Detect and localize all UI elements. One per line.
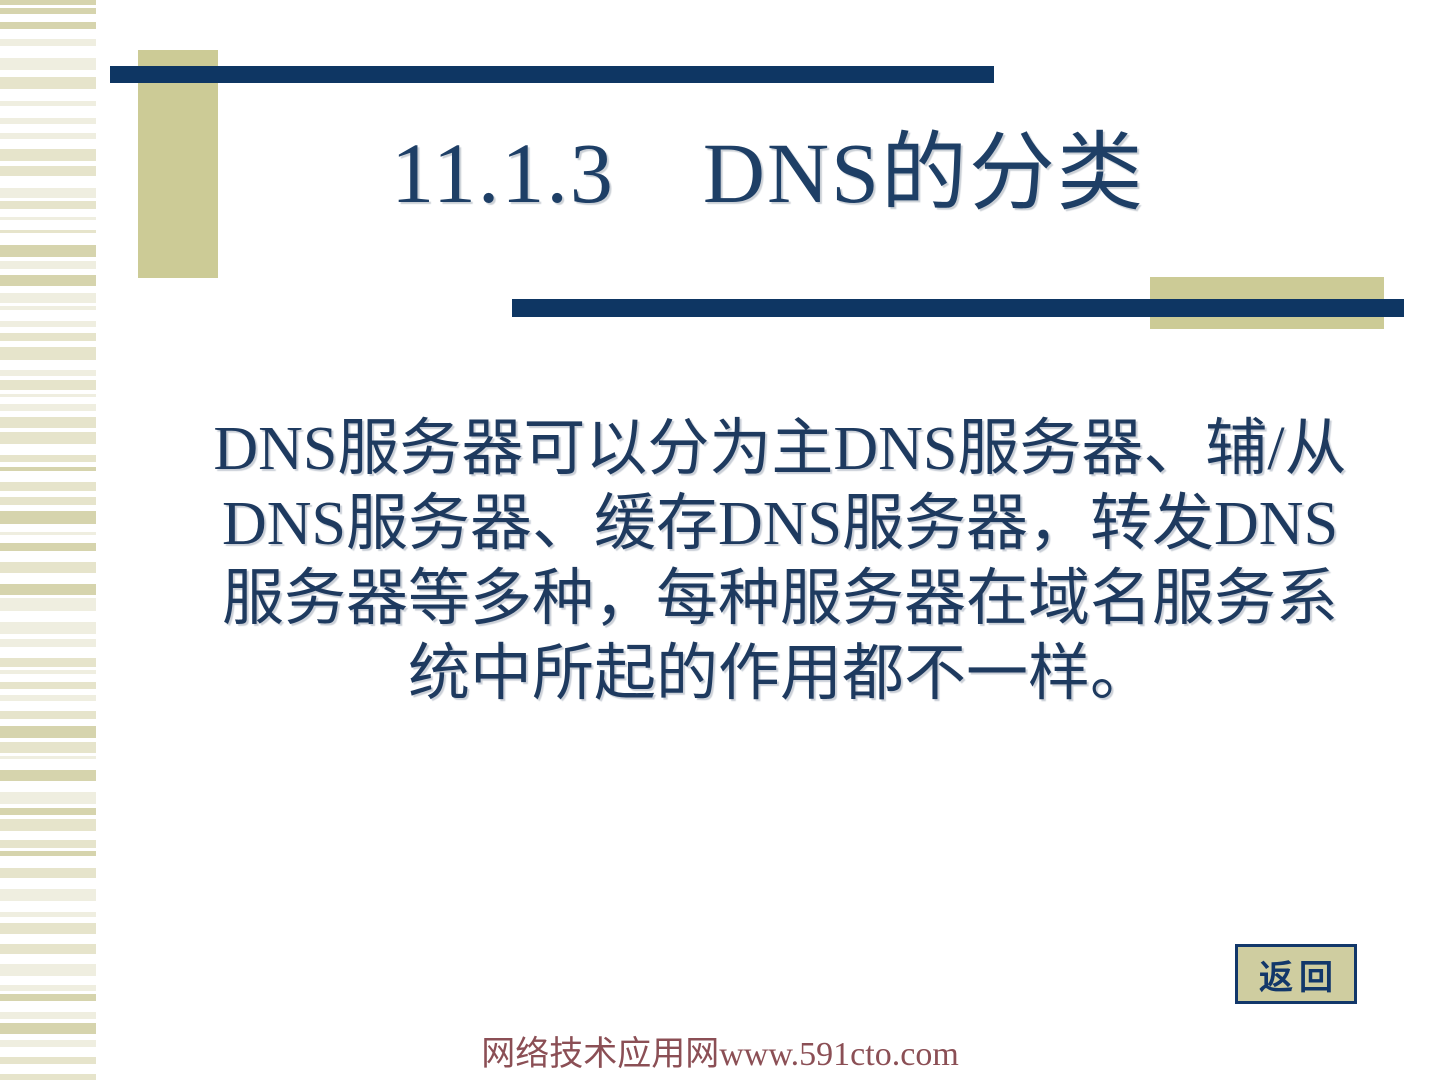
footer-watermark: 网络技术应用网www.591cto.com (0, 1026, 1440, 1075)
stripe-segment (0, 889, 96, 901)
stripe-segment (0, 792, 96, 804)
stripe-segment (0, 306, 96, 310)
stripe-segment (0, 497, 96, 505)
stripe-segment (0, 432, 96, 444)
stripe-segment (0, 562, 96, 573)
stripe-segment (0, 380, 96, 390)
stripe-segment (0, 985, 96, 991)
stripe-segment (0, 639, 96, 647)
body-paragraph: DNS服务器可以分为主DNS服务器、辅/从 DNS服务器、缓存DNS服务器，转发… (150, 412, 1410, 712)
stripe-segment (0, 819, 96, 831)
stripe-segment (0, 101, 96, 106)
stripe-segment (0, 455, 96, 462)
stripe-segment (0, 532, 96, 535)
stripe-segment (0, 293, 96, 303)
stripe-segment (0, 333, 96, 341)
stripe-segment (0, 923, 96, 934)
body-line-3: 服务器等多种，每种服务器在域名服务系 (150, 562, 1410, 637)
body-line-1: DNS服务器可以分为主DNS服务器、辅/从 (150, 412, 1410, 487)
stripe-segment (0, 840, 96, 848)
return-button-label: 返回 (1253, 950, 1339, 999)
stripe-segment (0, 261, 96, 269)
stripe-segment (0, 543, 96, 551)
stripe-segment (0, 166, 96, 176)
stripe-segment (0, 118, 96, 124)
stripe-segment (0, 1012, 96, 1019)
stripe-segment (0, 511, 96, 524)
stripe-segment (0, 8, 96, 14)
stripe-segment (0, 133, 96, 139)
stripe-segment (0, 622, 96, 634)
stripe-segment (0, 742, 96, 753)
stripe-segment (0, 944, 96, 954)
stripe-segment (0, 808, 96, 815)
stripe-segment (0, 726, 96, 738)
stripe-segment (0, 347, 96, 360)
stripe-segment (0, 39, 96, 46)
stripe-segment (0, 417, 96, 428)
stripe-segment (0, 670, 96, 674)
stripe-segment (0, 964, 96, 976)
stripe-segment (0, 394, 96, 397)
stripe-segment (0, 467, 96, 471)
stripe-segment (0, 321, 96, 327)
body-line-2: DNS服务器、缓存DNS服务器，转发DNS (150, 487, 1410, 562)
stripe-segment (0, 584, 96, 595)
navy-rule-mid (512, 299, 1404, 317)
stripe-segment (0, 682, 96, 689)
stripe-segment (0, 77, 96, 89)
stripe-segment (0, 245, 96, 257)
slide-canvas: 11.1.3 DNS的分类 DNS服务器可以分为主DNS服务器、辅/从 DNS服… (0, 0, 1440, 1080)
stripe-segment (0, 868, 96, 878)
stripe-segment (0, 994, 96, 1001)
stripe-segment (0, 695, 96, 701)
return-button[interactable]: 返回 (1235, 944, 1357, 1004)
stripe-segment (0, 0, 96, 5)
stripe-segment (0, 370, 96, 376)
stripe-segment (0, 770, 96, 781)
body-line-4: 统中所起的作用都不一样。 (150, 637, 1410, 712)
stripe-segment (0, 201, 96, 209)
stripe-segment (0, 482, 96, 491)
stripe-segment (0, 230, 96, 233)
stripe-segment (0, 912, 96, 917)
decorative-stripe-band (0, 0, 96, 1080)
stripe-segment (0, 275, 96, 286)
navy-rule-top (110, 66, 994, 83)
stripe-segment (0, 149, 96, 161)
stripe-segment (0, 58, 96, 70)
stripe-segment (0, 851, 96, 856)
stripe-segment (0, 658, 96, 667)
stripe-segment (0, 404, 96, 411)
stripe-segment (0, 711, 96, 719)
stripe-segment (0, 188, 96, 198)
page-title: 11.1.3 DNS的分类 (96, 128, 1440, 218)
stripe-segment (0, 598, 96, 611)
stripe-segment (0, 22, 96, 29)
stripe-segment (0, 756, 96, 759)
stripe-segment (0, 217, 96, 220)
